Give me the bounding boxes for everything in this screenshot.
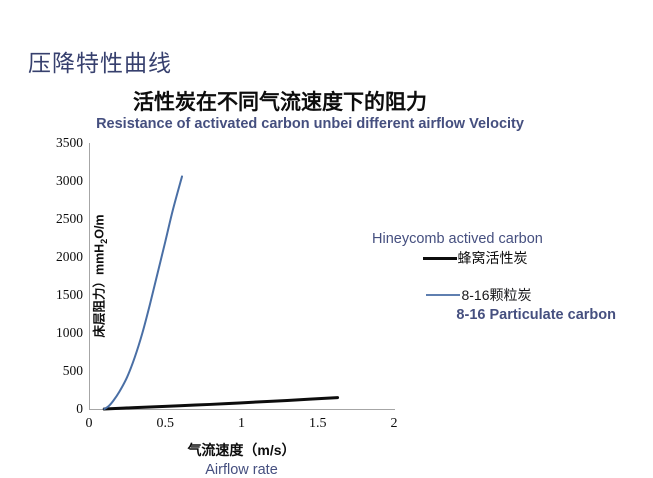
legend-label-particulate-english: 8-16 Particulate carbon bbox=[372, 307, 622, 323]
y-tick-label: 3500 bbox=[56, 135, 83, 151]
slide-canvas: 压降特性曲线 活性炭在不同气流速度下的阻力 Resistance of acti… bbox=[0, 0, 653, 448]
series-curves bbox=[89, 143, 395, 410]
y-tick-label: 3000 bbox=[56, 173, 83, 189]
legend-label-honeycomb-chinese: 蜂窝活性炭 bbox=[458, 248, 528, 268]
chart-legend: Hineycomb actived carbon 蜂窝活性炭 8-16颗粒炭 8… bbox=[372, 231, 622, 323]
y-tick-label: 2000 bbox=[56, 249, 83, 265]
x-axis-label-english: Airflow rate bbox=[205, 462, 278, 478]
y-tick-label: 0 bbox=[76, 401, 83, 417]
x-tick-label: 1.5 bbox=[309, 416, 327, 432]
series-line bbox=[104, 398, 337, 409]
x-tick-label: 1 bbox=[238, 416, 245, 432]
legend-entry-particulate: 8-16颗粒炭 bbox=[372, 285, 622, 305]
x-tick-label: 0.5 bbox=[157, 416, 175, 432]
legend-swatch-particulate bbox=[426, 294, 460, 296]
y-tick-label: 1000 bbox=[56, 325, 83, 341]
chart-title-english: Resistance of activated carbon unbei dif… bbox=[0, 116, 620, 132]
x-axis-label-chinese: 气流速度（m/s） bbox=[187, 440, 295, 460]
legend-label-honeycomb-english: Hineycomb actived carbon bbox=[372, 231, 622, 247]
chart-title-chinese: 活性炭在不同气流速度下的阻力 bbox=[0, 86, 560, 116]
page-title: 压降特性曲线 bbox=[28, 44, 172, 78]
legend-swatch-honeycomb bbox=[423, 257, 457, 260]
legend-label-particulate-chinese: 8-16颗粒炭 bbox=[461, 285, 531, 305]
chart-container: 活性炭在不同气流速度下的阻力 Resistance of activated c… bbox=[0, 86, 653, 448]
y-tick-label: 1500 bbox=[56, 287, 83, 303]
y-tick-label: 500 bbox=[63, 363, 83, 379]
plot-area: 0500100015002000250030003500 00.511.52 床… bbox=[89, 143, 394, 409]
x-tick-label: 0 bbox=[86, 416, 93, 432]
x-tick-label: 2 bbox=[391, 416, 398, 432]
y-tick-label: 2500 bbox=[56, 211, 83, 227]
series-line bbox=[104, 176, 182, 409]
legend-entry-honeycomb: 蜂窝活性炭 bbox=[372, 248, 622, 268]
